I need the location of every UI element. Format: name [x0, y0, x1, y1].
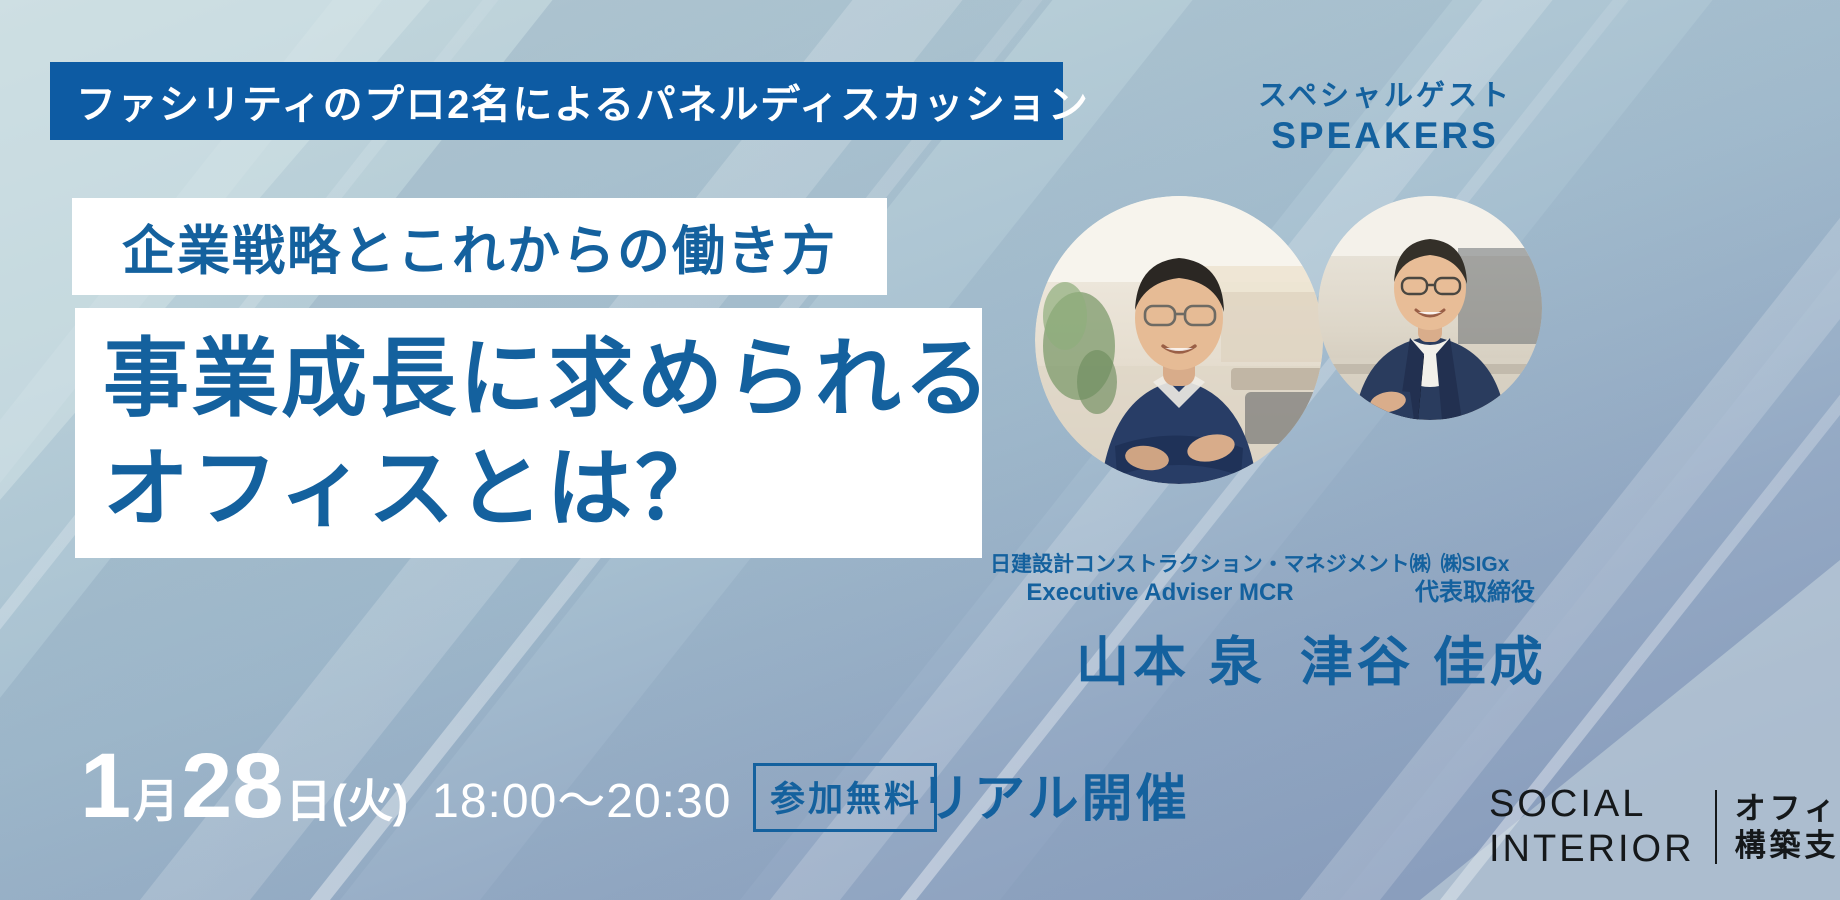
logo-divider	[1715, 790, 1717, 864]
subtitle-text: 企業戦略とこれからの働き方	[122, 209, 837, 285]
logo-tagline-line-2: 構築支援	[1735, 827, 1840, 864]
event-date-row: 1 月 28 日 (火) 18:00〜20:30	[80, 740, 731, 832]
speaker-name-yamamoto: 山本 泉	[1076, 620, 1266, 696]
free-admission-badge: 参加無料	[753, 763, 937, 832]
speaker-name-tsuya: 津谷 佳成	[1300, 620, 1547, 696]
speaker-photo-tsuya	[1318, 196, 1542, 420]
event-month-number: 1	[80, 740, 131, 832]
event-day-number: 28	[181, 740, 283, 832]
logo-tagline-line-1: オフィス	[1735, 790, 1840, 827]
speaker-role-yamamoto: Executive Adviser MCR	[990, 578, 1330, 608]
social-interior-logo: SOCIAL INTERIOR オフィス 構築支援	[1489, 782, 1840, 872]
speakers-header-jp: スペシャルゲスト	[1150, 78, 1620, 114]
event-time: 18:00〜20:30	[432, 778, 731, 826]
speakers-header: スペシャルゲスト SPEAKERS	[1150, 78, 1620, 159]
main-title-line-1: 事業成長に求められる	[103, 324, 982, 434]
ribbon-text: ファシリティのプロ2名によるパネルディスカッション	[76, 72, 1089, 130]
main-title-plate: 事業成長に求められる オフィスとは？	[75, 308, 982, 558]
event-format-label: リアル開催	[920, 757, 1190, 831]
logo-wordmark-line-1: SOCIAL	[1489, 782, 1695, 827]
logo-wordmark-line-2: INTERIOR	[1489, 827, 1695, 872]
logo-wordmark: SOCIAL INTERIOR	[1489, 782, 1695, 872]
event-banner: ファシリティのプロ2名によるパネルディスカッション スペシャルゲスト SPEAK…	[0, 0, 1840, 900]
speaker-role-tsuya: 代表取締役	[1350, 578, 1600, 608]
main-title-line-2: オフィスとは？	[103, 434, 982, 544]
event-day-kanji: 日	[286, 778, 332, 824]
logo-tagline: オフィス 構築支援	[1735, 790, 1840, 864]
speaker-org-tsuya: ㈱SIGx	[1350, 552, 1600, 578]
speakers-header-en: SPEAKERS	[1150, 114, 1620, 158]
event-day-of-week: (火)	[332, 778, 409, 824]
subtitle-plate: 企業戦略とこれからの働き方	[72, 198, 887, 295]
speaker-photo-yamamoto	[1035, 196, 1323, 484]
event-month-kanji: 月	[133, 778, 179, 824]
speaker-credentials-tsuya: ㈱SIGx 代表取締役	[1350, 552, 1600, 608]
speaker-org-yamamoto: 日建設計コンストラクション・マネジメント㈱	[990, 552, 1330, 578]
headline-ribbon: ファシリティのプロ2名によるパネルディスカッション	[50, 62, 1063, 140]
speaker-credentials-yamamoto: 日建設計コンストラクション・マネジメント㈱ Executive Adviser …	[990, 552, 1330, 608]
